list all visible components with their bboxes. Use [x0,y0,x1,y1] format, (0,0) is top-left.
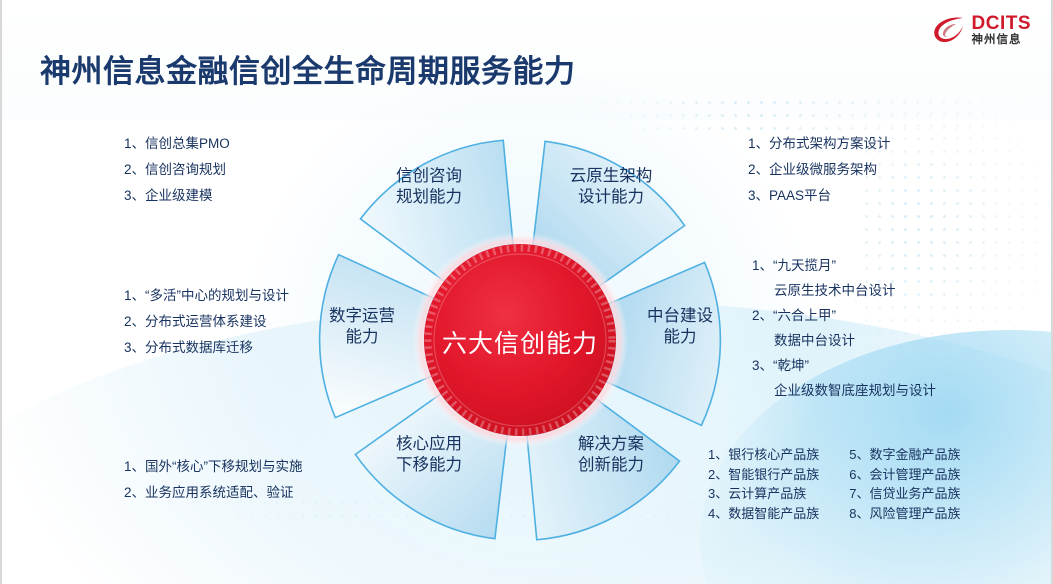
list-item: 2、业务应用系统适配、验证 [124,480,303,506]
list-item: 1、银行核心产品族 [708,445,819,465]
list-item: 3、云计算产品族 [708,484,819,504]
list-item: 2、“六合上甲” [752,303,936,328]
list-item: 2、信创咨询规划 [124,157,230,183]
list-item: 1、分布式架构方案设计 [748,131,891,157]
list-item: 数据中台设计 [752,328,936,353]
list-item: 7、信贷业务产品族 [849,484,960,504]
list-item: 4、数据智能产品族 [708,504,819,524]
list-item: 6、会计管理产品族 [849,465,960,485]
list-item: 3、企业级建模 [124,183,230,209]
six-capabilities-donut-diagram: 信创咨询 规划能力 云原生架构 设计能力 中台建设 能力 解决方案 创新能力 核… [308,128,732,552]
list-item: 1、信创总集PMO [124,131,230,157]
list-item: 2、企业级微服务架构 [748,157,891,183]
list-item: 1、国外“核心”下移规划与实施 [124,454,303,480]
logo-text-en: DCITS [972,14,1032,33]
list-item: 3、分布式数据库迁移 [124,335,289,361]
list-item: 5、数字金融产品族 [849,445,960,465]
list-item: 云原生技术中台设计 [752,278,936,303]
midplatform-items: 1、“九天揽月”云原生技术中台设计2、“六合上甲”数据中台设计3、“乾坤”企业级… [752,253,936,403]
list-item: 3、“乾坤” [752,353,936,378]
product-family-column-1: 1、银行核心产品族2、智能银行产品族3、云计算产品族4、数据智能产品族 [708,445,819,523]
dcits-logo: DCITS 神州信息 [932,14,1032,47]
page-title: 神州信息金融信创全生命周期服务能力 [40,46,576,91]
digital-ops-items: 1、“多活”中心的规划与设计2、分布式运营体系建设3、分布式数据库迁移 [124,283,289,361]
dcits-swoosh-icon [932,15,966,45]
logo-text-cn: 神州信息 [972,35,1032,47]
list-item: 2、分布式运营体系建设 [124,309,289,335]
core-app-items: 1、国外“核心”下移规划与实施2、业务应用系统适配、验证 [124,454,303,506]
product-family-column-2: 5、数字金融产品族6、会计管理产品族7、信贷业务产品族8、风险管理产品族 [849,445,960,523]
cloud-native-items: 1、分布式架构方案设计2、企业级微服务架构3、PAAS平台 [748,131,891,209]
list-item: 1、“多活”中心的规划与设计 [124,283,289,309]
list-item: 1、“九天揽月” [752,253,936,278]
left-edge-rule [0,0,2,584]
consulting-items: 1、信创总集PMO2、信创咨询规划3、企业级建模 [124,131,230,209]
core-label: 六大信创能力 [308,324,732,360]
list-item: 3、PAAS平台 [748,183,891,209]
solution-product-families: 1、银行核心产品族2、智能银行产品族3、云计算产品族4、数据智能产品族5、数字金… [708,445,960,523]
list-item: 2、智能银行产品族 [708,465,819,485]
list-item: 8、风险管理产品族 [849,504,960,524]
list-item: 企业级数智底座规划与设计 [752,378,936,403]
